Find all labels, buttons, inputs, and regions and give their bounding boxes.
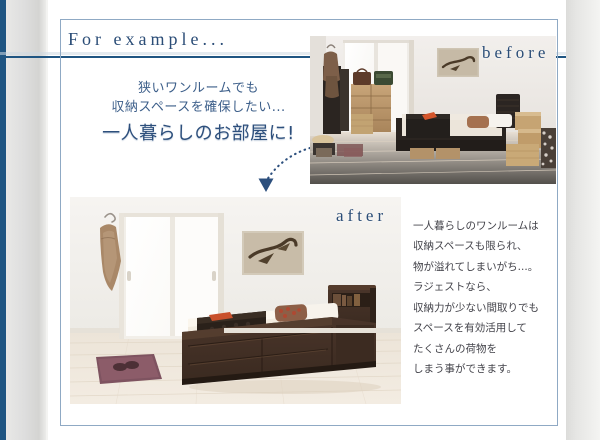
- label-before: before: [482, 43, 549, 63]
- label-after: after: [336, 206, 387, 226]
- page-spine-shade: [6, 0, 46, 440]
- photo-after: [70, 197, 401, 404]
- body-copy-line: 物が溢れてしまいがち...。: [413, 257, 555, 277]
- lede-line-1: 狭いワンルームでも: [96, 80, 301, 99]
- page-spine-bar: [0, 0, 6, 440]
- lede-block: 狭いワンルームでも 収納スペースを確保したい... 一人暮らしのお部屋に!: [96, 80, 301, 147]
- curved-dotted-down-arrow-icon: [240, 140, 312, 198]
- body-copy-line: しまう事ができます。: [413, 359, 555, 379]
- body-copy: 一人暮らしのワンルームは 収納スペースも限られ、 物が溢れてしまいがち...。 …: [413, 216, 555, 380]
- page-spine-edge: [46, 0, 48, 440]
- body-copy-line: たくさんの荷物を: [413, 339, 555, 359]
- body-copy-line: 一人暮らしのワンルームは: [413, 216, 555, 236]
- page-stage: For example... 狭いワンルームでも 収納スペースを確保したい...…: [0, 0, 600, 440]
- body-copy-line: 収納スペースも限られ、: [413, 236, 555, 256]
- body-copy-line: 収納力が少ない間取りでも: [413, 298, 555, 318]
- page-right-gutter: [566, 0, 600, 440]
- lede-line-2: 収納スペースを確保したい...: [96, 99, 301, 118]
- body-copy-line: スペースを有効活用して: [413, 318, 555, 338]
- body-copy-line: ラジェストなら、: [413, 277, 555, 297]
- photo-after-illustration: [70, 197, 401, 404]
